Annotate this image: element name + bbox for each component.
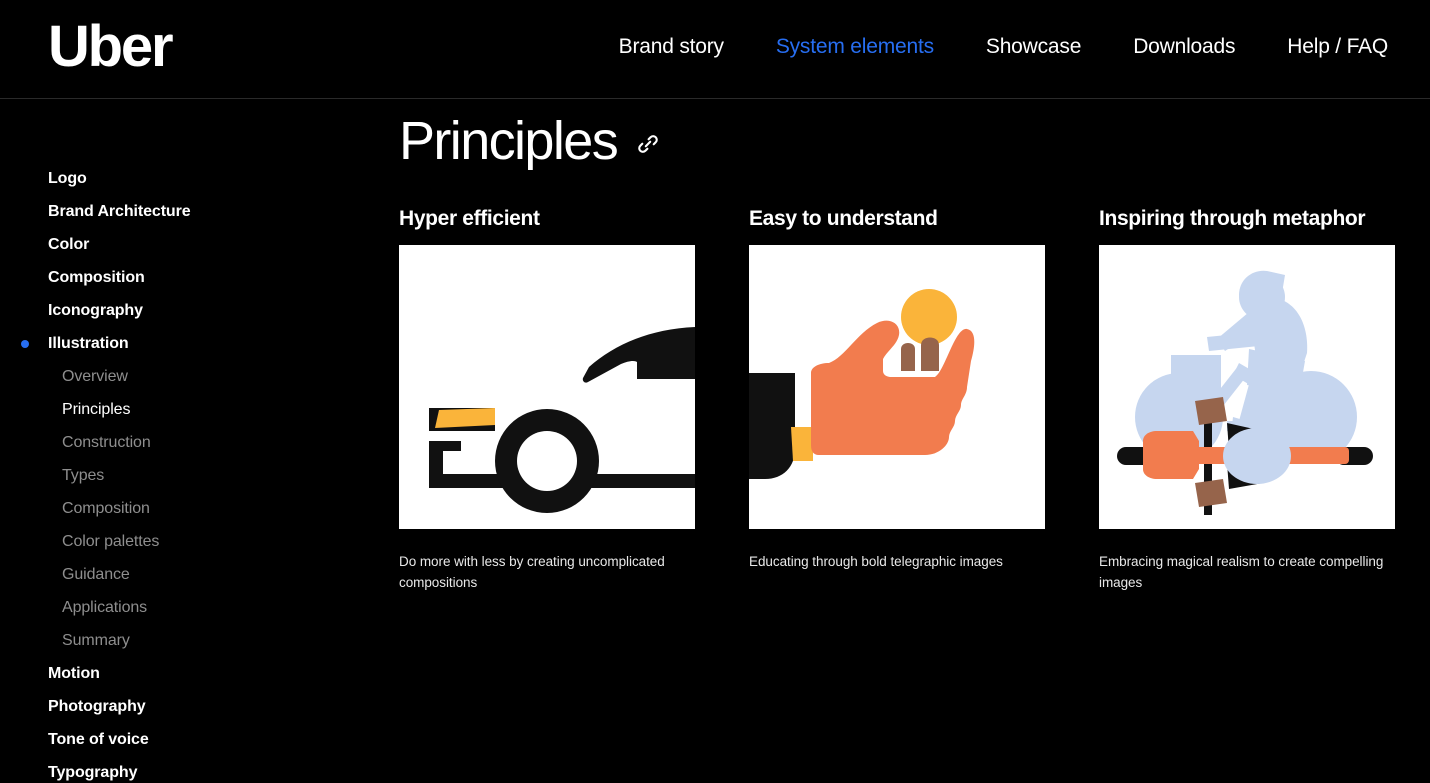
sidebar-item-logo[interactable]: Logo bbox=[0, 162, 399, 195]
sidebar-item-typography[interactable]: Typography bbox=[0, 756, 399, 783]
sidebar-item-iconography[interactable]: Iconography bbox=[0, 294, 399, 327]
sidebar-item-label: Composition bbox=[62, 500, 150, 517]
sidebar-item-label: Applications bbox=[62, 599, 147, 616]
sidebar-item-label: Logo bbox=[48, 170, 87, 187]
principles-card-grid: Hyper efficient Do bbox=[399, 207, 1430, 593]
sidebar-item-label: Motion bbox=[48, 665, 100, 682]
sidebar-item-label: Guidance bbox=[62, 566, 130, 583]
nav-item-brand-story[interactable]: Brand story bbox=[593, 32, 750, 62]
sidebar-item-photography[interactable]: Photography bbox=[0, 690, 399, 723]
illustration-cyclist bbox=[1099, 245, 1395, 529]
sidebar-item-color-palettes[interactable]: Color palettes bbox=[0, 525, 399, 558]
uber-logo[interactable]: Uber bbox=[48, 18, 171, 76]
sidebar-item-principles[interactable]: Principles bbox=[0, 393, 399, 426]
nav-item-system-elements[interactable]: System elements bbox=[750, 32, 960, 62]
sidebar-item-motion[interactable]: Motion bbox=[0, 657, 399, 690]
sidebar-item-label: Types bbox=[62, 467, 104, 484]
sidebar-item-overview[interactable]: Overview bbox=[0, 360, 399, 393]
card-heading: Hyper efficient bbox=[399, 207, 695, 230]
page-title-row: Principles bbox=[399, 100, 1430, 174]
sidebar-navigation: Logo Brand Architecture Color Compositio… bbox=[0, 100, 399, 783]
active-section-dot-icon bbox=[21, 340, 29, 348]
sidebar-item-summary[interactable]: Summary bbox=[0, 624, 399, 657]
sidebar-item-illustration[interactable]: Illustration bbox=[0, 327, 399, 360]
sidebar-item-label: Iconography bbox=[48, 302, 143, 319]
sidebar-item-brand-architecture[interactable]: Brand Architecture bbox=[0, 195, 399, 228]
sidebar-item-composition-sub[interactable]: Composition bbox=[0, 492, 399, 525]
sidebar-item-applications[interactable]: Applications bbox=[0, 591, 399, 624]
sidebar-item-label: Overview bbox=[62, 368, 128, 385]
sidebar-item-label: Principles bbox=[62, 401, 130, 418]
sidebar-item-label: Photography bbox=[48, 698, 146, 715]
main-content: Principles Hyper efficient bbox=[399, 100, 1430, 783]
principle-card: Easy to understand bbox=[749, 207, 1045, 593]
card-heading: Easy to understand bbox=[749, 207, 1045, 230]
sidebar-item-composition[interactable]: Composition bbox=[0, 261, 399, 294]
nav-item-showcase[interactable]: Showcase bbox=[960, 32, 1107, 62]
card-caption: Do more with less by creating uncomplica… bbox=[399, 551, 691, 593]
sidebar-item-guidance[interactable]: Guidance bbox=[0, 558, 399, 591]
sidebar-item-label: Typography bbox=[48, 764, 137, 781]
sidebar-item-color[interactable]: Color bbox=[0, 228, 399, 261]
sidebar-item-label: Brand Architecture bbox=[48, 203, 191, 220]
sidebar-item-construction[interactable]: Construction bbox=[0, 426, 399, 459]
sidebar-item-types[interactable]: Types bbox=[0, 459, 399, 492]
sidebar-item-label: Color bbox=[48, 236, 89, 253]
illustration-car bbox=[399, 245, 695, 529]
principle-card: Hyper efficient Do bbox=[399, 207, 695, 593]
card-heading: Inspiring through metaphor bbox=[1099, 207, 1395, 230]
primary-navigation: Brand story System elements Showcase Dow… bbox=[593, 32, 1414, 62]
nav-item-downloads[interactable]: Downloads bbox=[1107, 32, 1261, 62]
card-caption: Embracing magical realism to create comp… bbox=[1099, 551, 1391, 593]
sidebar-item-label: Construction bbox=[62, 434, 151, 451]
sidebar-item-label: Summary bbox=[62, 632, 130, 649]
link-icon[interactable] bbox=[635, 131, 661, 157]
nav-item-help-faq[interactable]: Help / FAQ bbox=[1261, 32, 1414, 62]
sidebar-item-tone-of-voice[interactable]: Tone of voice bbox=[0, 723, 399, 756]
page-title: Principles bbox=[399, 114, 617, 168]
sidebar-item-label: Color palettes bbox=[62, 533, 159, 550]
site-header: Uber Brand story System elements Showcas… bbox=[0, 0, 1430, 99]
illustration-hand-holding-figure bbox=[749, 245, 1045, 529]
principle-card: Inspiring through metaphor bbox=[1099, 207, 1395, 593]
sidebar-item-label: Composition bbox=[48, 269, 145, 286]
sidebar-item-label: Tone of voice bbox=[48, 731, 149, 748]
sidebar-item-label: Illustration bbox=[48, 335, 129, 352]
card-caption: Educating through bold telegraphic image… bbox=[749, 551, 1041, 572]
